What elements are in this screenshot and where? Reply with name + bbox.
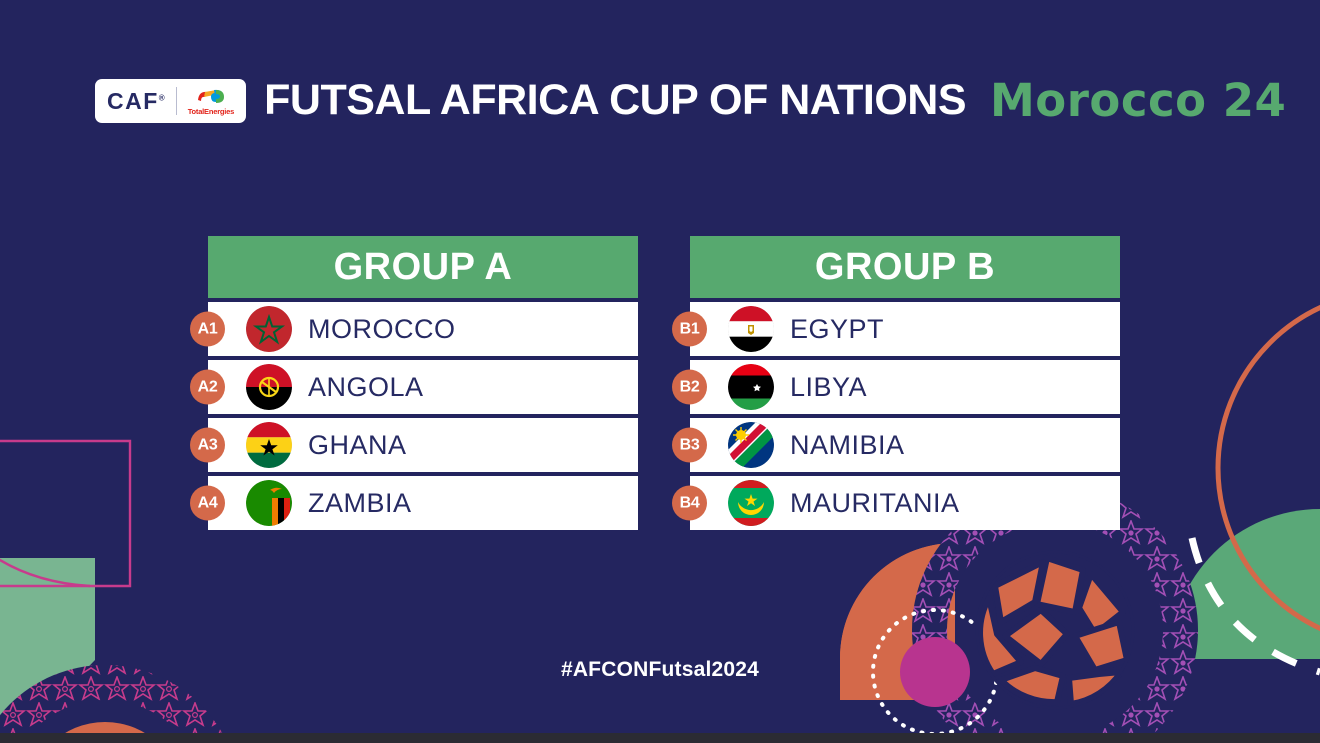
country-name: MAURITANIA: [790, 490, 960, 517]
flag-egypt-icon: [728, 306, 774, 352]
flag-libya-icon: [728, 364, 774, 410]
country-name: ZAMBIA: [308, 490, 412, 517]
country-name: ANGOLA: [308, 374, 424, 401]
seed-badge: A3: [190, 428, 225, 463]
graphic-canvas: CAF® TotalEnergies FUTSAL AFRICA CUP OF …: [0, 0, 1320, 743]
seed-badge: B1: [672, 312, 707, 347]
seed-label: B3: [680, 437, 700, 453]
flag-zambia-icon: [246, 480, 292, 526]
flag-ghana-icon: [246, 422, 292, 468]
country-name: EGYPT: [790, 316, 884, 343]
group-b-table: GROUP B B1 EGYPT B2: [690, 236, 1120, 534]
country-name: MOROCCO: [308, 316, 456, 343]
country-name: LIBYA: [790, 374, 867, 401]
caf-logo: CAF® TotalEnergies: [95, 79, 246, 123]
table-row[interactable]: A2 ANGOLA: [208, 360, 638, 414]
table-row[interactable]: B2 LIBYA: [690, 360, 1120, 414]
flag-mauritania-icon: [728, 480, 774, 526]
host-year-label: Morocco 24: [990, 78, 1286, 123]
event-hashtag: #AFCONFutsal2024: [0, 658, 1320, 682]
group-a-header: GROUP A: [208, 236, 638, 298]
table-row[interactable]: B4 MAURITANIA: [690, 476, 1120, 530]
table-row[interactable]: A3 GHANA: [208, 418, 638, 472]
seed-label: A2: [198, 379, 218, 395]
seed-badge: B4: [672, 486, 707, 521]
event-title: FUTSAL AFRICA CUP OF NATIONS: [264, 79, 966, 122]
table-row[interactable]: B3 NAMIBIA: [690, 418, 1120, 472]
flag-namibia-icon: [728, 422, 774, 468]
seed-label: A4: [198, 495, 218, 511]
table-row[interactable]: B1 EGYPT: [690, 302, 1120, 356]
seed-label: A1: [198, 321, 218, 337]
group-b-title: GROUP B: [815, 248, 995, 286]
seed-badge: A2: [190, 370, 225, 405]
seed-label: B4: [680, 495, 700, 511]
totalenergies-label: TotalEnergies: [188, 108, 234, 116]
table-row[interactable]: A4 ZAMBIA: [208, 476, 638, 530]
group-b-header: GROUP B: [690, 236, 1120, 298]
seed-badge: B2: [672, 370, 707, 405]
bottom-strip: [0, 733, 1320, 743]
group-a-title: GROUP A: [334, 248, 513, 286]
table-row[interactable]: A1 MOROCCO: [208, 302, 638, 356]
seed-badge: A1: [190, 312, 225, 347]
logo-divider: [176, 87, 177, 115]
seed-label: A3: [198, 437, 218, 453]
group-a-rows: A1 MOROCCO A2 ANGOL: [208, 302, 638, 530]
flag-morocco-icon: [246, 306, 292, 352]
seed-badge: B3: [672, 428, 707, 463]
page-header: CAF® TotalEnergies FUTSAL AFRICA CUP OF …: [95, 78, 1286, 123]
group-b-rows: B1 EGYPT B2: [690, 302, 1120, 530]
registered-mark: ®: [159, 93, 165, 102]
caf-wordmark: CAF®: [107, 90, 165, 113]
group-a-table: GROUP A A1 MOROCCO A2: [208, 236, 638, 534]
country-name: NAMIBIA: [790, 432, 905, 459]
seed-label: B1: [680, 321, 700, 337]
flag-angola-icon: [246, 364, 292, 410]
futsal-ball-icon: [977, 552, 1133, 708]
seed-badge: A4: [190, 486, 225, 521]
country-name: GHANA: [308, 432, 407, 459]
totalenergies-logo: TotalEnergies: [188, 87, 234, 116]
totalenergies-mark-icon: [196, 87, 226, 107]
seed-label: B2: [680, 379, 700, 395]
